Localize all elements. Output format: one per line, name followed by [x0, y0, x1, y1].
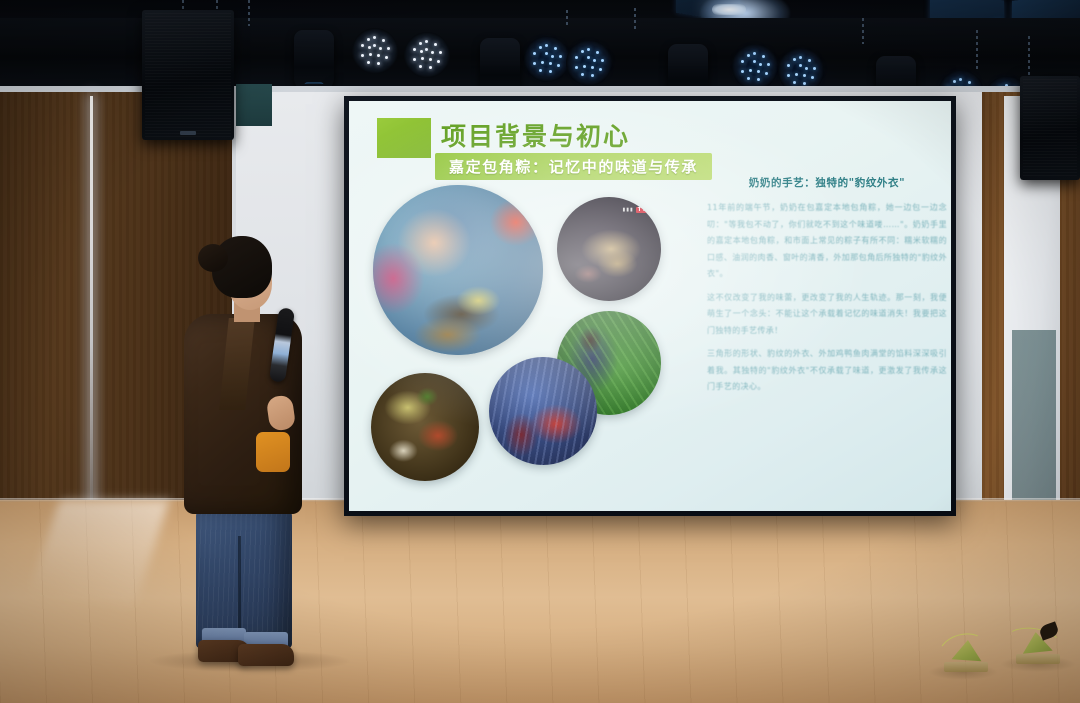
projection-screen[interactable]: 项目背景与初心 嘉定包角粽：记忆中的味道与传承: [349, 101, 951, 511]
truss-chain: [634, 8, 636, 30]
par-light: [732, 44, 778, 90]
moving-head-light: [294, 30, 334, 92]
photo-grandmother-wrapping-zongzi: [373, 185, 543, 355]
speaker-badge: [180, 131, 196, 135]
par-light: [566, 40, 612, 86]
floor-reflection: [0, 500, 1080, 703]
slide-subtitle: 嘉定包角粽：记忆中的味道与传承: [449, 156, 698, 177]
slide-text-heading: 奶奶的手艺：独特的"豹纹外衣": [707, 175, 947, 190]
truss-chain: [976, 30, 978, 70]
truss-chain: [248, 0, 250, 26]
teal-wall-accent: [236, 84, 272, 126]
projection-screen-frame: 项目背景与初心 嘉定包角粽：记忆中的味道与传承: [344, 96, 956, 516]
par-light: [352, 28, 398, 74]
slide-paragraph: 11年前的端午节，奶奶在包嘉定本地包角粽，她一边包一边念叨："等我包不动了，你们…: [707, 200, 947, 283]
led-light-strip: [90, 96, 93, 506]
presentation-hall-photo: 项目背景与初心 嘉定包角粽：记忆中的味道与传承: [0, 0, 1080, 703]
tv-channel-watermark: ▮▮▮TV: [622, 207, 649, 213]
slide-title: 项目背景与初心: [441, 117, 630, 153]
presenter-shoe: [238, 644, 294, 666]
par-light: [524, 36, 570, 82]
photo-zongzi-leopard-pattern-closeup: ▮▮▮TV: [557, 197, 661, 301]
presenter-jeans: [196, 508, 292, 648]
presenter-orange-cuff: [256, 432, 290, 472]
hanging-speaker-left: [142, 10, 234, 140]
par-light: [404, 32, 450, 78]
slide-paragraph: 这不仅改变了我的味蕾，更改变了我的人生轨迹。那一刻，我便萌生了一个念头：不能让这…: [707, 290, 947, 340]
hanging-speaker-right: [1020, 76, 1080, 180]
truss-chain: [566, 10, 568, 28]
speaker-grill: [1023, 79, 1077, 177]
slide-subtitle-bar: 嘉定包角粽：记忆中的味道与传承: [435, 153, 712, 180]
truss-chain: [862, 18, 864, 44]
photo-zongzi-fillings-tray: [371, 373, 479, 481]
ceiling-downlight: [712, 4, 746, 15]
slide-text-column: 奶奶的手艺：独特的"豹纹外衣" 11年前的端午节，奶奶在包嘉定本地包角粽，她一边…: [707, 175, 947, 403]
speaker-grill: [145, 13, 231, 137]
slide-accent-square: [377, 118, 431, 158]
photo-market-stall-night: [489, 357, 597, 465]
teal-wall-accent: [1012, 330, 1056, 500]
presenter: [176, 236, 308, 666]
slide-paragraph: 三角形的形状、豹纹的外衣、外加鸡鸭鱼肉满堂的馅料深深吸引着我。其独特的"豹纹外衣…: [707, 346, 947, 396]
presenter-hair-bun: [198, 244, 228, 272]
